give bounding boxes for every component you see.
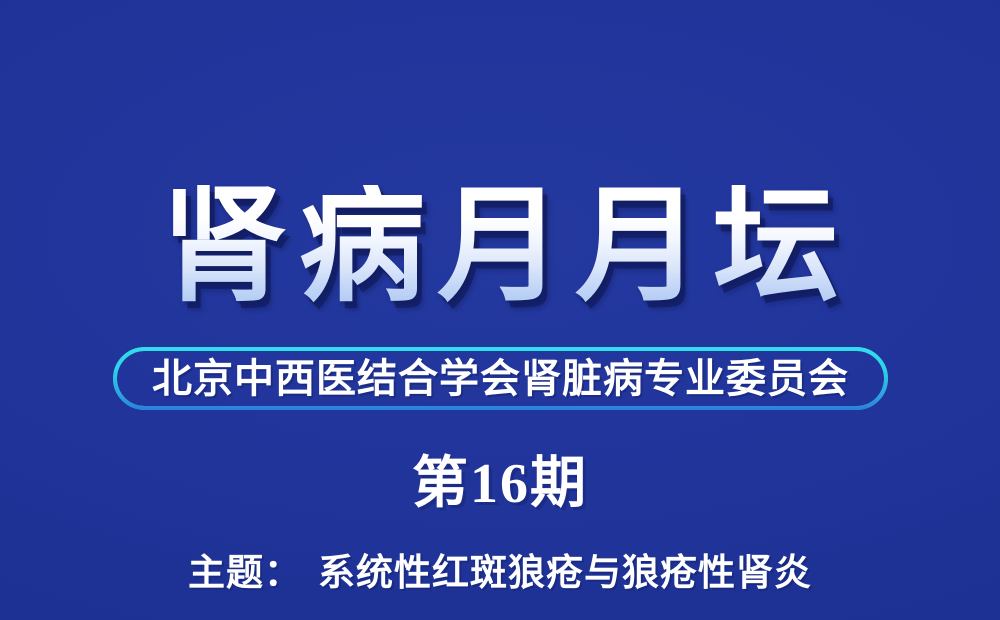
- organization-name: 北京中西医结合学会肾脏病专业委员会: [152, 359, 849, 399]
- poster-canvas: 肾病月月坛 北京中西医结合学会肾脏病专业委员会 第16期 主题：系统性红斑狼疮与…: [0, 0, 1000, 620]
- episode-number: 第16期: [0, 452, 1000, 516]
- organization-badge: 北京中西医结合学会肾脏病专业委员会: [113, 347, 888, 410]
- theme-line: 主题：系统性红斑狼疮与狼疮性肾炎: [0, 552, 1000, 596]
- theme-label: 主题：: [188, 553, 302, 594]
- page-title: 肾病月月坛: [149, 185, 851, 311]
- theme-value: 系统性红斑狼疮与狼疮性肾炎: [318, 553, 812, 594]
- main-title-container: 肾病月月坛: [0, 168, 1000, 328]
